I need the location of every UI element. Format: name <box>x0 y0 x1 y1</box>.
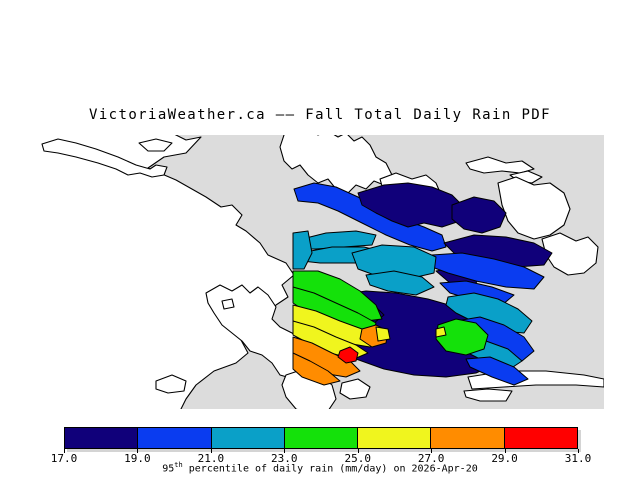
colorbar-segment-6 <box>505 428 577 448</box>
land-mainland-southwest <box>36 135 294 409</box>
region-small-yellow-islet <box>376 327 390 341</box>
caption-superscript: th <box>174 461 182 469</box>
land-far-east-finger-b <box>464 389 512 401</box>
region-south-green-islet <box>436 327 446 337</box>
colorbar-segment-3 <box>285 428 358 448</box>
colorbar-segment-2 <box>212 428 285 448</box>
colorbar-segment-1 <box>138 428 211 448</box>
land-east-mass <box>498 177 570 239</box>
colorbar-segment-5 <box>431 428 504 448</box>
map-graphic <box>36 135 604 409</box>
caption-rest: percentile of daily rain (mm/day) on 202… <box>183 463 478 474</box>
land-islet-interior-a <box>222 299 234 309</box>
land-central-north-island <box>280 135 392 193</box>
land-ne-sliver-a <box>466 157 534 173</box>
page-title: VictoriaWeather.ca —— Fall Total Daily R… <box>0 107 640 123</box>
caption-prefix: 95 <box>162 463 174 474</box>
colorbar-wrapper <box>64 427 578 449</box>
map-panel <box>36 135 604 409</box>
colorbar-caption: 95th percentile of daily rain (mm/day) o… <box>0 461 640 474</box>
weather-map-page: VictoriaWeather.ca —— Fall Total Daily R… <box>0 0 640 480</box>
region-left-cyan-column <box>293 231 312 269</box>
colorbar-segment-0 <box>65 428 138 448</box>
colorbar-segment-4 <box>358 428 431 448</box>
region-east-navy-lobe <box>452 197 506 233</box>
colorbar <box>64 427 578 449</box>
land-south-islet-a <box>340 379 370 399</box>
